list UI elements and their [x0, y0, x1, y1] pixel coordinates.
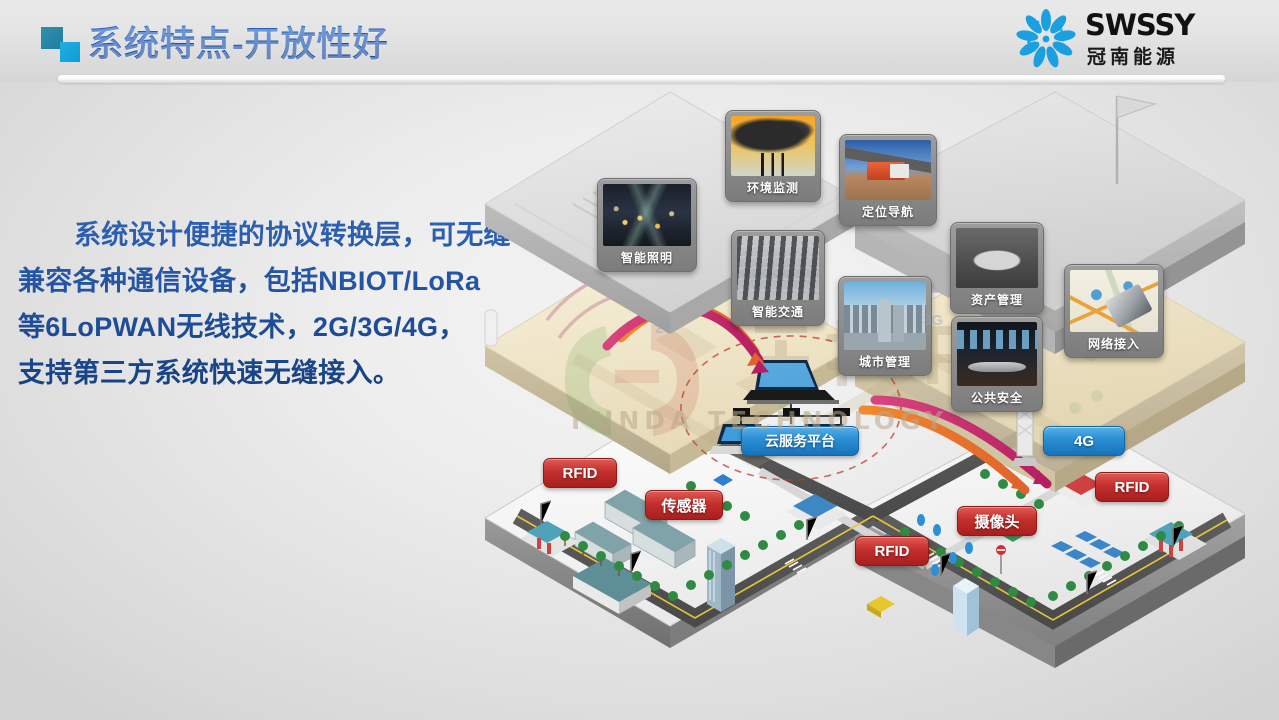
header-square-light-icon [60, 42, 80, 62]
company-logo: SWSSY 冠南能源 [1015, 6, 1265, 72]
info-kiosk [953, 578, 979, 636]
night-city-lighting-thumb [603, 184, 691, 246]
body-line-3: 等6LoPWAN无线技术，2G/3G/4G， [18, 312, 466, 342]
truck-highway-thumb [845, 140, 931, 200]
header-divider [58, 75, 1225, 83]
tag-4g[interactable]: 4G [1043, 426, 1125, 456]
body-line-1: 系统设计便捷的协议转换层，可无缝 [74, 220, 511, 250]
water-droplet-petals-icon [1015, 8, 1077, 70]
app-card-environment-monitoring[interactable]: 环境监测 [725, 110, 821, 202]
control-room-thumb [957, 322, 1037, 386]
slide-header: 系统特点-开放性好 [0, 0, 1279, 82]
app-card-label: 公共安全 [957, 386, 1037, 411]
app-card-network-access[interactable]: 网络接入 [1064, 264, 1164, 358]
app-card-label: 资产管理 [956, 288, 1038, 313]
app-card-positioning-navigation[interactable]: 定位导航 [839, 134, 937, 226]
watermark-text: FUNDA TECHNOLOGY [571, 406, 948, 435]
app-card-label: 网络接入 [1070, 332, 1158, 357]
body-paragraph: 系统设计便捷的协议转换层，可无缝 兼容各种通信设备，包括NBIOT/LoRa 等… [18, 212, 518, 396]
logo-subtitle: 冠南能源 [1087, 42, 1179, 69]
tag-rfid-center[interactable]: RFID [855, 536, 929, 566]
ghost-tag-3g: 3G [923, 312, 943, 329]
tag-label: 摄像头 [974, 511, 1019, 532]
tag-label: RFID [563, 465, 598, 482]
page-title: 系统特点-开放性好 [88, 16, 389, 67]
app-card-smart-lighting[interactable]: 智能照明 [597, 178, 697, 272]
iot-architecture-diagram: 智能照明 环境监测 智能交通 定位导航 城市管理 [455, 88, 1279, 668]
tag-rfid-right[interactable]: RFID [1095, 472, 1169, 502]
app-card-label: 智能交通 [737, 300, 819, 325]
app-card-label: 定位导航 [845, 200, 931, 225]
tag-label: 传感器 [661, 495, 706, 516]
app-card-label: 环境监测 [731, 176, 815, 201]
city-skyline-thumb [844, 282, 926, 350]
app-card-label: 智能照明 [603, 246, 691, 271]
tag-label: RFID [1115, 479, 1150, 496]
app-card-label: 城市管理 [844, 350, 926, 375]
manhole-cover-thumb [956, 228, 1038, 288]
body-line-4: 支持第三方系统快速无缝接入。 [18, 358, 400, 388]
2g-pillar [485, 310, 497, 346]
ghost-tag-2g: 2G [655, 320, 675, 337]
app-card-asset-management[interactable]: 资产管理 [950, 222, 1044, 314]
tag-sensor[interactable]: 传感器 [645, 490, 723, 520]
app-card-city-management[interactable]: 城市管理 [838, 276, 932, 376]
logo-wordmark: SWSSY [1085, 8, 1194, 42]
tag-label: 4G [1074, 433, 1094, 450]
map-handheld-device-thumb [1070, 270, 1158, 332]
body-line-2: 兼容各种通信设备，包括NBIOT/LoRa [18, 266, 480, 296]
tag-rfid-left[interactable]: RFID [543, 458, 617, 488]
app-card-public-safety[interactable]: 公共安全 [951, 316, 1043, 412]
tag-camera[interactable]: 摄像头 [957, 506, 1037, 536]
app-card-smart-traffic[interactable]: 智能交通 [731, 230, 825, 326]
smokestack-pollution-thumb [731, 116, 815, 176]
tag-label: RFID [875, 543, 910, 560]
traffic-jam-thumb [737, 236, 819, 300]
